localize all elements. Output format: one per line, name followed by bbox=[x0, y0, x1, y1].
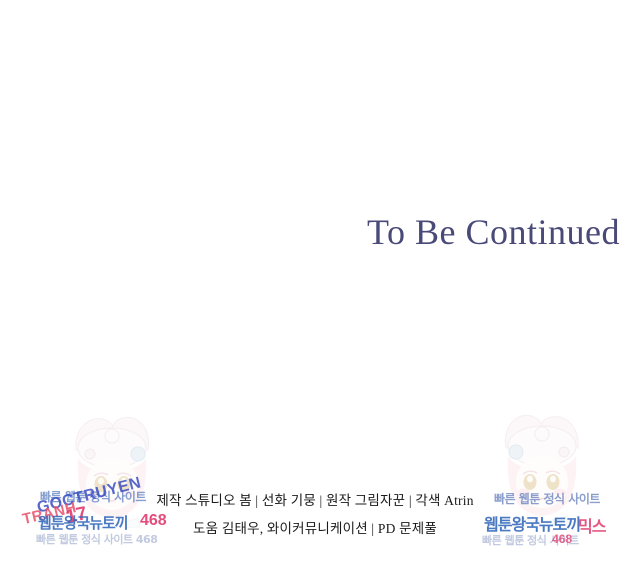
to-be-continued-text: To Be Continued bbox=[0, 211, 620, 253]
credit-line-support: 도움 김태우, 와이커뮤니케이션 | PD 문제풀 bbox=[0, 515, 630, 543]
credit-line-production: 제작 스튜디오 봄 | 선화 기뭉 | 원작 그림자꾼 | 각색 Atrin bbox=[0, 487, 630, 515]
comic-end-page: To Be Continued bbox=[0, 0, 630, 564]
credits-block: 제작 스튜디오 봄 | 선화 기뭉 | 원작 그림자꾼 | 각색 Atrin 도… bbox=[0, 487, 630, 543]
